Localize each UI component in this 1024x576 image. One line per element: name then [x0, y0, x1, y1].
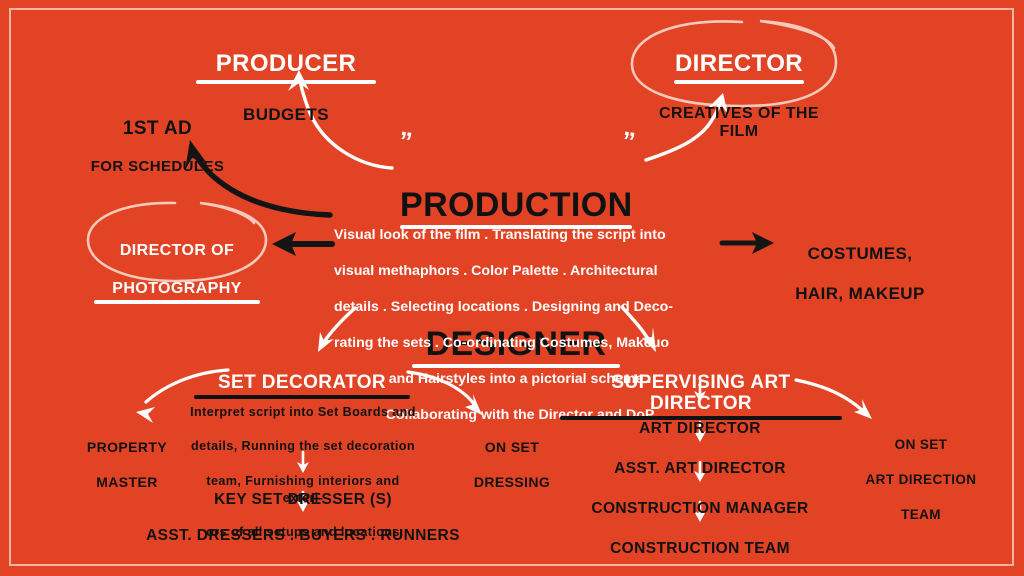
- node-costumes-hair-makeup[interactable]: COSTUMES, HAIR, MAKEUP: [770, 226, 950, 321]
- costumes-line1: COSTUMES,: [770, 244, 950, 263]
- pd-desc-line-1: visual methaphors . Color Palette . Arch…: [334, 262, 706, 280]
- property-master-line1: PROPERTY: [62, 440, 192, 456]
- pd-desc-line-3: rating the sets . Co-ordinating Costumes…: [334, 334, 706, 352]
- diagram-canvas: PRODUCER BUDGETS DIRECTOR CREATIVES OF T…: [0, 0, 1024, 576]
- on-set-art-team-line1: ON SET: [845, 437, 997, 452]
- dop-line1: DIRECTOR OF: [94, 242, 260, 260]
- pd-desc-line-0: Visual look of the film . Translating th…: [334, 226, 706, 244]
- node-director-of-photography[interactable]: DIRECTOR OF PHOTOGRAPHY: [94, 224, 260, 322]
- key-set-dresser-label: KEY SET DRESSER (S): [193, 491, 413, 508]
- pd-desc-line-2: details . Selecting locations . Designin…: [334, 298, 706, 316]
- construction-manager-label: CONSTRUCTION MANAGER: [580, 500, 820, 517]
- producer-heading: PRODUCER: [196, 51, 376, 84]
- arrow-pd-to-dop: [272, 232, 332, 256]
- first-ad-sub: FOR SCHEDULES: [85, 159, 230, 176]
- asst-art-director-label: ASST. ART DIRECTOR: [600, 460, 800, 477]
- on-set-art-team-line2: ART DIRECTION: [845, 472, 997, 487]
- costumes-line2: HAIR, MAKEUP: [770, 284, 950, 303]
- on-set-art-team-line3: TEAM: [845, 507, 997, 522]
- setdec-desc-line-0: Interpret script into Set Boards and: [190, 404, 416, 421]
- dop-line2: PHOTOGRAPHY: [94, 280, 260, 304]
- asst-dressers-label: ASST. DRESSERS . BUYERS . RUNNERS: [143, 527, 463, 544]
- arrow-pd-to-costumes: [722, 232, 774, 254]
- node-on-set-art-direction-team[interactable]: ON SET ART DIRECTION TEAM: [845, 419, 997, 540]
- node-property-master[interactable]: PROPERTY MASTER: [62, 422, 192, 509]
- node-asst-dressers[interactable]: ASST. DRESSERS . BUYERS . RUNNERS: [143, 509, 463, 562]
- art-director-label: ART DIRECTOR: [610, 420, 790, 437]
- setdec-desc-line-1: details, Running the set decoration: [190, 438, 416, 455]
- node-on-set-dressing[interactable]: ON SET DRESSING: [452, 422, 572, 509]
- node-first-ad[interactable]: 1ST AD FOR SCHEDULES: [85, 100, 230, 194]
- node-construction-team[interactable]: CONSTRUCTION TEAM: [600, 522, 800, 575]
- on-set-dressing-line1: ON SET: [452, 440, 572, 456]
- on-set-dressing-line2: DRESSING: [452, 475, 572, 491]
- property-master-line2: MASTER: [62, 475, 192, 491]
- construction-team-label: CONSTRUCTION TEAM: [600, 540, 800, 557]
- first-ad-heading: 1ST AD: [85, 118, 230, 139]
- director-heading: DIRECTOR: [674, 51, 804, 84]
